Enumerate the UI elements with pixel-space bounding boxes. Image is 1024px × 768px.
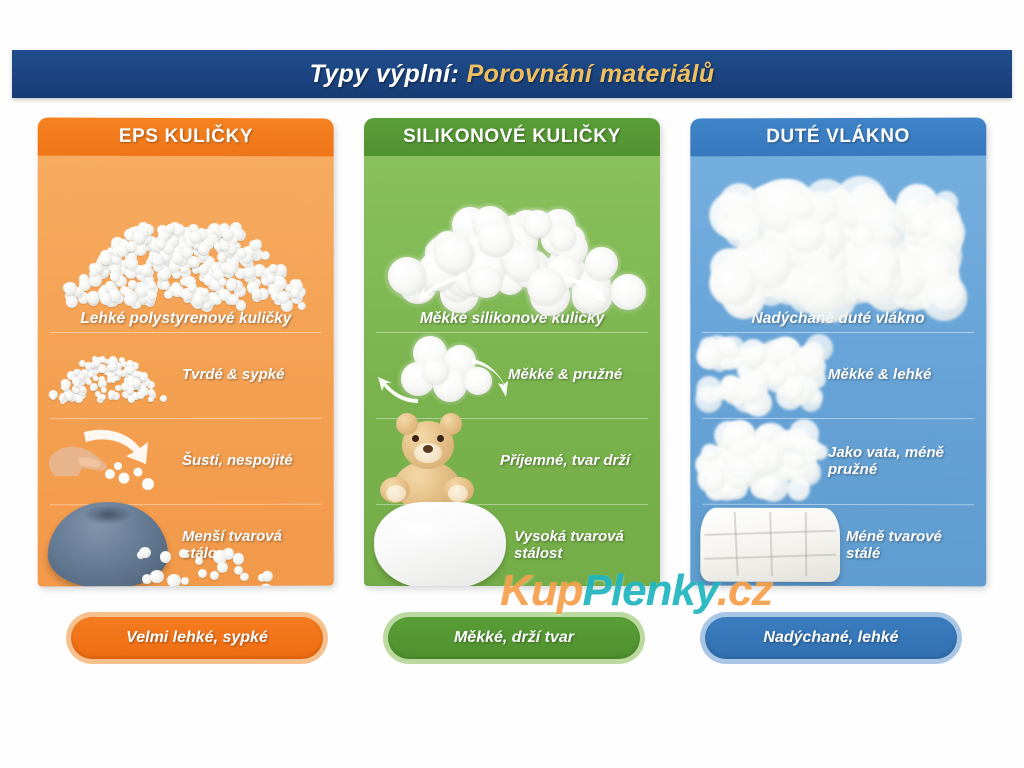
column-eps-hero: Lehké polystyrenové kuličky — [38, 156, 334, 332]
column-hollow-fiber-row-1-caption: Měkké & lehké — [828, 366, 976, 383]
header-banner: Typy výplní: Porovnání materiálů — [12, 50, 1012, 98]
column-eps-row-2: Šustí, nespojité — [38, 418, 334, 504]
teddy-bear-icon — [374, 405, 500, 517]
stretch-arrows-icon — [374, 337, 508, 413]
column-hollow-fiber-title: DUTÉ VLÁKNO — [766, 126, 910, 148]
column-hollow-fiber-hero: Nadýchané duté vlákno — [690, 156, 986, 332]
summary-pill-eps-label: Velmi lehké, sypké — [126, 629, 268, 647]
expand-arrows-icon — [387, 276, 637, 306]
row-divider — [702, 332, 974, 333]
watermark-plenky: Plenky — [583, 566, 717, 615]
row-divider — [376, 332, 648, 333]
column-silicone-title: SILIKONOVÉ KULIČKY — [403, 126, 621, 148]
column-eps-row-1: Tvrdé & sypké — [38, 332, 334, 418]
summary-pill-hollow-fiber-label: Nadýchané, lehké — [763, 629, 898, 647]
eps-bead-pile-icon — [61, 190, 311, 310]
summary-pill-silicone-label: Měkké, drží tvar — [454, 629, 574, 647]
column-silicone-row-2: Příjemné, tvar drží — [364, 418, 660, 504]
comparison-columns: EPS KULIČKY Lehké polystyrenové kuličky … — [0, 118, 1024, 588]
column-hollow-fiber-row-2-caption: Jako vata, méně pružné — [828, 444, 976, 479]
fiber-puff-icon — [700, 339, 828, 411]
pillow-icon — [374, 502, 514, 586]
summary-pill-hollow-fiber[interactable]: Nadýchané, lehké — [700, 612, 962, 664]
column-silicone-hero: Měkké silikonové kuličky — [364, 156, 660, 332]
column-eps-hero-caption: Lehké polystyrenové kuličky — [48, 310, 324, 328]
summary-pill-hollow-fiber-inner[interactable]: Nadýchané, lehké — [705, 617, 957, 659]
column-hollow-fiber-header: DUTÉ VLÁKNO — [690, 118, 986, 157]
column-eps: EPS KULIČKY Lehké polystyrenové kuličky … — [38, 118, 334, 587]
page-title-primary: Typy výplní: — [309, 60, 459, 88]
column-hollow-fiber-body: Nadýchané duté vlákno Měkké & lehké Jako… — [690, 156, 986, 587]
column-eps-row-1-caption: Tvrdé & sypké — [182, 366, 324, 383]
column-silicone-row-3-caption: Vysoká tvarová stálost — [514, 528, 650, 563]
page-title-secondary: Porovnání materiálů — [467, 60, 715, 88]
fiber-cotton-icon — [700, 425, 828, 497]
watermark-cz: .cz — [717, 566, 773, 615]
infographic-page: Typy výplní: Porovnání materiálů EPS KUL… — [0, 0, 1024, 768]
summary-pill-eps-inner[interactable]: Velmi lehké, sypké — [71, 617, 323, 659]
watermark-logo: KupPlenky.cz — [500, 566, 772, 616]
eps-bead-small-pile-icon — [48, 345, 182, 405]
row-divider — [702, 504, 974, 506]
column-hollow-fiber: DUTÉ VLÁKNO Nadýchané duté vlákno Měkké … — [690, 118, 986, 587]
page-title: Typy výplní: Porovnání materiálů — [309, 60, 714, 89]
column-silicone-row-1-caption: Měkké & pružné — [508, 366, 650, 383]
summary-pill-silicone-inner[interactable]: Měkké, drží tvar — [388, 617, 640, 659]
column-hollow-fiber-row-3-caption: Méně tvarové stálé — [846, 528, 976, 563]
row-divider — [50, 418, 322, 419]
bean-bag-icon — [48, 502, 182, 586]
hollow-fiber-cloud-icon — [713, 188, 963, 310]
column-silicone: SILIKONOVÉ KULIČKY Měkké silikonové kuli… — [364, 118, 660, 586]
silicone-pompom-cluster-icon — [374, 337, 508, 413]
column-silicone-header: SILIKONOVÉ KULIČKY — [364, 118, 660, 156]
watermark-kup: Kup — [500, 566, 583, 615]
summary-pills: Velmi lehké, sypké Měkké, drží tvar Nadý… — [0, 612, 1024, 676]
column-hollow-fiber-row-2: Jako vata, méně pružné — [690, 418, 986, 504]
summary-pill-silicone[interactable]: Měkké, drží tvar — [383, 612, 645, 664]
column-eps-row-2-caption: Šustí, nespojité — [182, 452, 324, 469]
column-eps-header: EPS KULIČKY — [38, 118, 334, 157]
summary-pill-eps[interactable]: Velmi lehké, sypké — [66, 612, 328, 664]
silicone-pompom-pile-icon — [387, 190, 637, 310]
column-eps-body: Lehké polystyrenové kuličky Tvrdé & sypk… — [38, 156, 334, 587]
row-divider — [50, 332, 322, 333]
row-divider — [702, 418, 974, 419]
column-silicone-row-2-caption: Příjemné, tvar drží — [500, 452, 650, 469]
column-eps-title: EPS KULIČKY — [119, 126, 253, 148]
column-eps-row-3: Menší tvarová stálost — [38, 504, 334, 587]
column-hollow-fiber-row-1: Měkké & lehké — [690, 332, 986, 418]
hand-scattering-beads-icon — [48, 424, 182, 498]
column-silicone-body: Měkké silikonové kuličky Měkké & pružné — [364, 156, 660, 586]
